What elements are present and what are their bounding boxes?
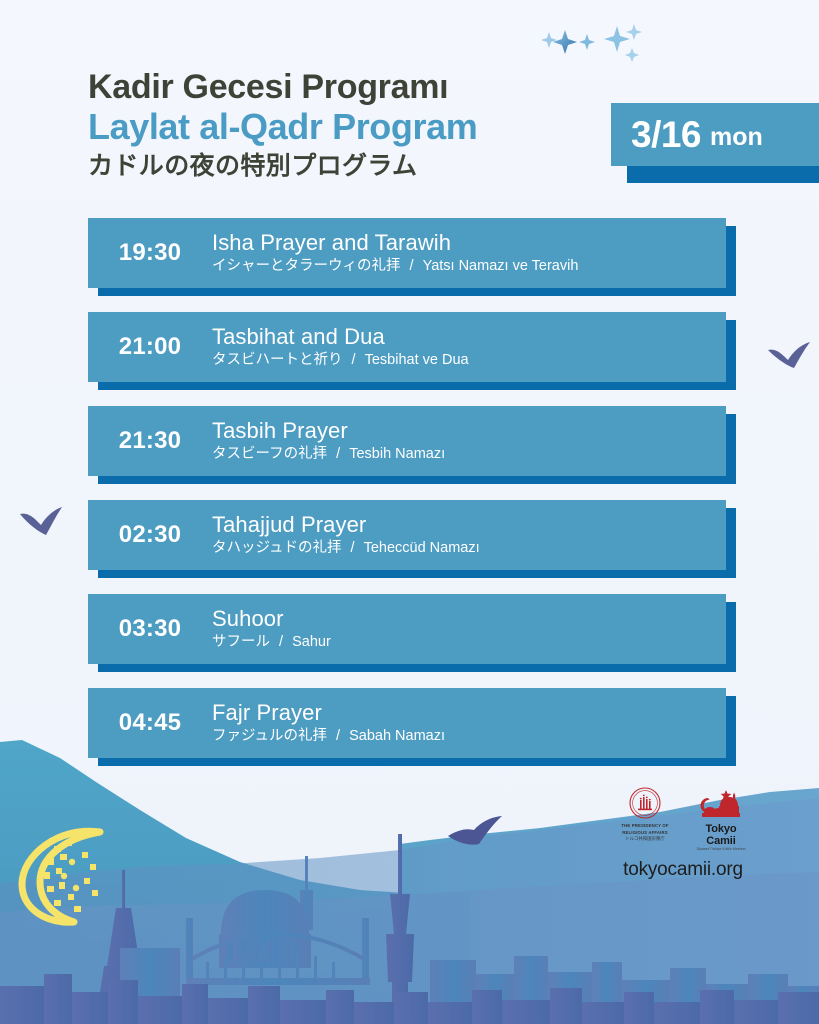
bird-icon [18,506,64,542]
row-texts: Suhoor サフール / Sahur [212,607,726,651]
row-subtitle-tr: Sabah Namazı [349,728,445,744]
row-subtitle-jp: サフール [212,634,270,650]
row-subtitle: タハッジュドの礼拝 / Teheccüd Namazı [212,540,712,557]
row-subtitle: イシャーとタラーウィの礼拝 / Yatsı Namazı ve Teravih [212,258,712,275]
row-subtitle-jp: ファジュルの礼拝 [212,728,327,744]
row-texts: Isha Prayer and Tarawih イシャーとタラーウィの礼拝 / … [212,231,726,275]
tokyo-camii-logo: Tokyo Camii Diyanet Türkiye Kültür Merke… [690,786,752,852]
row-separator: / [336,728,340,744]
crescent-calligraphy-icon [14,822,126,926]
row-title: Suhoor [212,607,712,632]
date-value: 3/16 [631,116,701,153]
schedule-row[interactable]: 21:00 Tasbihat and Dua タスビハートと祈り / Tesbi… [88,312,736,390]
row-subtitle-jp: タスビハートと祈り [212,352,343,368]
diyanet-line3: トルコ共和国宗務庁 [614,836,676,842]
tokyo-camii-subtitle: Diyanet Türkiye Kültür Merkezi [690,847,752,852]
title-turkish: Kadir Gecesi Programı [88,68,648,106]
row-title: Tahajjud Prayer [212,513,712,538]
row-subtitle-jp: イシャーとタラーウィの礼拝 [212,258,401,274]
row-time: 19:30 [88,239,212,267]
row-subtitle: ファジュルの礼拝 / Sabah Namazı [212,728,712,745]
row-subtitle-jp: タスビーフの礼拝 [212,446,327,462]
bird-icon [766,340,812,376]
row-title: Isha Prayer and Tarawih [212,231,712,256]
schedule-row[interactable]: 02:30 Tahajjud Prayer タハッジュドの礼拝 / Tehecc… [88,500,736,578]
row-title: Tasbihat and Dua [212,325,712,350]
schedule-list: 19:30 Isha Prayer and Tarawih イシャーとタラーウィ… [88,218,736,782]
row-time: 02:30 [88,521,212,549]
diyanet-seal-icon [614,786,676,822]
date-badge: 3/16 mon [611,103,819,175]
row-separator: / [410,258,414,274]
website-url[interactable]: tokyocamii.org [608,859,758,881]
row-time: 21:00 [88,333,212,361]
row-time: 04:45 [88,709,212,737]
row-separator: / [279,634,283,650]
row-time: 21:30 [88,427,212,455]
row-card: 21:00 Tasbihat and Dua タスビハートと祈り / Tesbi… [88,312,726,382]
row-time: 03:30 [88,615,212,643]
bird-icon [446,814,504,856]
row-texts: Fajr Prayer ファジュルの礼拝 / Sabah Namazı [212,701,726,745]
logo-row: THE PRESIDENCY OF RELIGIOUS AFFAIRS トルコ共… [608,786,758,852]
row-card: 02:30 Tahajjud Prayer タハッジュドの礼拝 / Tehecc… [88,500,726,570]
row-subtitle-tr: Sahur [292,634,331,650]
row-texts: Tasbih Prayer タスビーフの礼拝 / Tesbih Namazı [212,419,726,463]
row-card: 19:30 Isha Prayer and Tarawih イシャーとタラーウィ… [88,218,726,288]
diyanet-logo: THE PRESIDENCY OF RELIGIOUS AFFAIRS トルコ共… [614,786,676,841]
diyanet-line2: RELIGIOUS AFFAIRS [614,830,676,836]
row-subtitle-tr: Tesbihat ve Dua [365,352,469,368]
diyanet-line1: THE PRESIDENCY OF [614,823,676,829]
schedule-row[interactable]: 04:45 Fajr Prayer ファジュルの礼拝 / Sabah Namaz… [88,688,736,766]
row-separator: / [351,540,355,556]
schedule-row[interactable]: 19:30 Isha Prayer and Tarawih イシャーとタラーウィ… [88,218,736,296]
footer-branding: THE PRESIDENCY OF RELIGIOUS AFFAIRS トルコ共… [608,786,758,881]
date-weekday: mon [710,125,763,150]
row-texts: Tasbihat and Dua タスビハートと祈り / Tesbihat ve… [212,325,726,369]
tokyo-camii-mosque-icon [690,786,752,822]
row-texts: Tahajjud Prayer タハッジュドの礼拝 / Teheccüd Nam… [212,513,726,557]
poster-canvas: Kadir Gecesi Programı Laylat al-Qadr Pro… [0,0,819,1024]
schedule-row[interactable]: 03:30 Suhoor サフール / Sahur [88,594,736,672]
row-subtitle-tr: Teheccüd Namazı [364,540,480,556]
sparkle-star-icon [537,22,647,74]
tokyo-camii-name: Tokyo Camii [690,823,752,847]
row-card: 04:45 Fajr Prayer ファジュルの礼拝 / Sabah Namaz… [88,688,726,758]
row-title: Tasbih Prayer [212,419,712,444]
row-subtitle-jp: タハッジュドの礼拝 [212,540,341,556]
poster-header: Kadir Gecesi Programı Laylat al-Qadr Pro… [88,68,648,181]
title-english: Laylat al-Qadr Program [88,107,648,147]
row-subtitle: タスビハートと祈り / Tesbihat ve Dua [212,352,712,369]
row-card: 21:30 Tasbih Prayer タスビーフの礼拝 / Tesbih Na… [88,406,726,476]
title-japanese: カドルの夜の特別プログラム [88,151,648,181]
date-badge-card: 3/16 mon [611,103,819,166]
row-subtitle-tr: Tesbih Namazı [349,446,445,462]
row-separator: / [352,352,356,368]
row-card: 03:30 Suhoor サフール / Sahur [88,594,726,664]
row-subtitle-tr: Yatsı Namazı ve Teravih [423,258,579,274]
row-title: Fajr Prayer [212,701,712,726]
row-subtitle: タスビーフの礼拝 / Tesbih Namazı [212,446,712,463]
row-subtitle: サフール / Sahur [212,634,712,651]
row-separator: / [336,446,340,462]
schedule-row[interactable]: 21:30 Tasbih Prayer タスビーフの礼拝 / Tesbih Na… [88,406,736,484]
